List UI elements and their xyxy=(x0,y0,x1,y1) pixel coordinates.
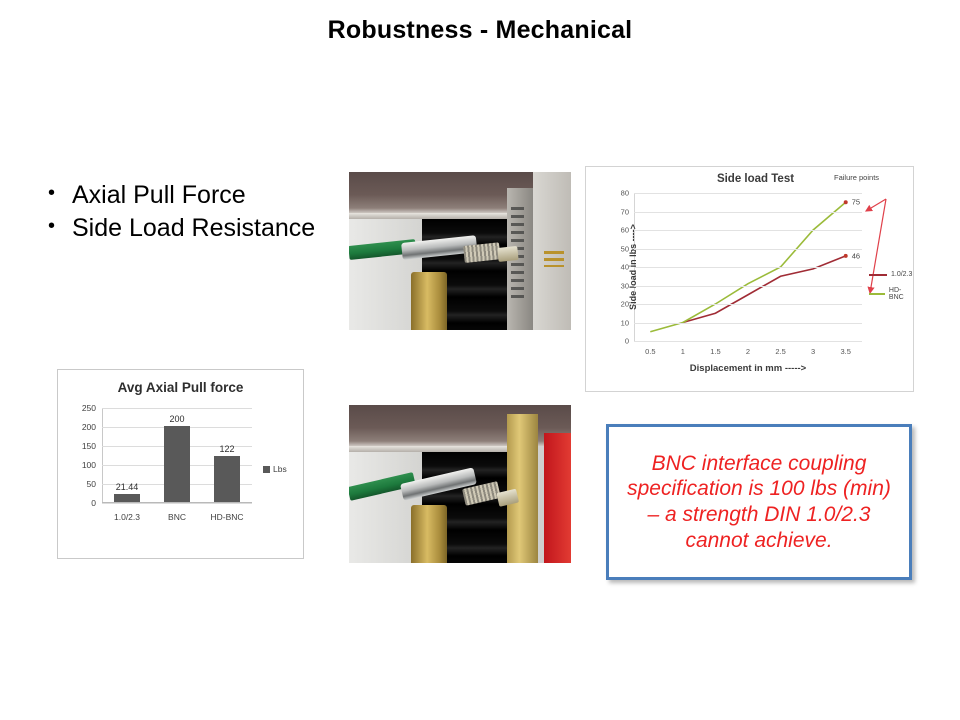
x-axis-tick: 3 xyxy=(811,347,815,356)
gridline xyxy=(634,323,862,324)
photo-side-load-fixture-deflected xyxy=(349,405,571,563)
chart-plot-area: Side load in lbs ----> Displacement in m… xyxy=(634,193,862,341)
callout-text: BNC interface coupling specification is … xyxy=(619,451,899,553)
red-backing xyxy=(544,433,571,563)
list-item: • Side Load Resistance xyxy=(48,213,338,244)
photo-side-load-fixture-straight xyxy=(349,172,571,330)
y-axis-tick: 0 xyxy=(625,337,629,346)
x-axis-tick: 1 xyxy=(681,347,685,356)
y-axis-tick: 50 xyxy=(87,479,96,489)
gridline xyxy=(634,267,862,268)
connector-tip xyxy=(497,246,518,262)
y-axis-tick: 50 xyxy=(621,244,629,253)
y-axis-tick: 60 xyxy=(621,226,629,235)
chart-legend: Lbs xyxy=(263,464,287,474)
bullet-marker-icon: • xyxy=(48,213,72,240)
failure-point-marker xyxy=(844,200,848,204)
gridline xyxy=(634,249,862,250)
chart-title: Avg Axial Pull force xyxy=(58,380,303,395)
slide-canvas: Robustness - Mechanical • Axial Pull For… xyxy=(0,0,960,720)
y-axis-tick: 70 xyxy=(621,207,629,216)
bullet-marker-icon: • xyxy=(48,180,72,207)
bar-BNC xyxy=(164,426,190,502)
x-axis-tick: 2.5 xyxy=(775,347,785,356)
legend-swatch-icon xyxy=(263,466,270,473)
bar-value-label: 122 xyxy=(219,444,234,454)
gridline xyxy=(102,503,252,504)
legend-swatch-icon xyxy=(869,293,885,295)
chart-annotation-failure-points: Failure points xyxy=(834,173,879,182)
photo-content xyxy=(349,405,571,563)
y-axis-tick: 40 xyxy=(621,263,629,272)
failure-point-marker xyxy=(844,254,848,258)
bullet-text: Side Load Resistance xyxy=(72,213,338,244)
list-item: • Axial Pull Force xyxy=(48,180,338,211)
x-axis-tick: HD-BNC xyxy=(210,512,243,522)
y-axis-line xyxy=(102,408,103,503)
y-axis-tick: 0 xyxy=(91,498,96,508)
gridline xyxy=(634,341,862,342)
y-axis-tick: 250 xyxy=(82,403,96,413)
x-axis-tick: 2 xyxy=(746,347,750,356)
data-point-label: 46 xyxy=(852,251,860,260)
y-axis-tick: 80 xyxy=(621,189,629,198)
series-line-1.0/2.3 xyxy=(683,256,846,323)
fixture-top-bar xyxy=(349,405,571,446)
legend-item-2: HD-BNC xyxy=(869,287,913,301)
gridline xyxy=(102,408,252,409)
data-point-label: 75 xyxy=(852,198,860,207)
gridline xyxy=(634,212,862,213)
legend-item-1: 1.0/2.3 xyxy=(869,271,913,278)
bar-value-label: 200 xyxy=(169,414,184,424)
brass-cylinder xyxy=(411,272,447,330)
x-axis-tick: 3.5 xyxy=(840,347,850,356)
x-axis-tick: BNC xyxy=(168,512,186,522)
failure-point-arrow xyxy=(866,199,886,211)
gridline xyxy=(634,304,862,305)
bar-value-label: 21.44 xyxy=(116,482,139,492)
y-axis-tick: 150 xyxy=(82,441,96,451)
y-axis-tick: 30 xyxy=(621,281,629,290)
chart-legend: 1.0/2.3 HD-BNC xyxy=(869,271,913,310)
legend-swatch-icon xyxy=(869,274,887,276)
y-axis-tick: 100 xyxy=(82,460,96,470)
legend-label: Lbs xyxy=(273,464,287,474)
x-axis-tick: 1.0/2.3 xyxy=(114,512,140,522)
gridline xyxy=(634,230,862,231)
bar-HD-BNC xyxy=(214,456,240,502)
chart-avg-axial-pull-force: Avg Axial Pull force 05010015020025021.4… xyxy=(57,369,304,559)
page-title: Robustness - Mechanical xyxy=(0,16,960,45)
bar-1.0/2.3 xyxy=(114,494,140,502)
y-axis-tick: 200 xyxy=(82,422,96,432)
bullet-text: Axial Pull Force xyxy=(72,180,338,211)
gridline xyxy=(634,193,862,194)
y-axis-tick: 10 xyxy=(621,318,629,327)
legend-label: 1.0/2.3 xyxy=(891,271,912,278)
brass-cylinder xyxy=(411,505,447,563)
legend-label: HD-BNC xyxy=(889,287,913,301)
callout-box: BNC interface coupling specification is … xyxy=(606,424,912,580)
x-axis-label: Displacement in mm -----> xyxy=(634,363,862,374)
chart-plot-area: 05010015020025021.441.0/2.3200BNC122HD-B… xyxy=(102,408,252,503)
bullet-list: • Axial Pull Force • Side Load Resistanc… xyxy=(48,180,338,245)
gridline xyxy=(634,286,862,287)
x-axis-tick: 0.5 xyxy=(645,347,655,356)
chart-side-load-test: Side load Test Failure points Side load … xyxy=(585,166,914,392)
photo-content xyxy=(349,172,571,330)
y-axis-tick: 20 xyxy=(621,300,629,309)
x-axis-tick: 1.5 xyxy=(710,347,720,356)
gold-pins xyxy=(544,251,564,267)
